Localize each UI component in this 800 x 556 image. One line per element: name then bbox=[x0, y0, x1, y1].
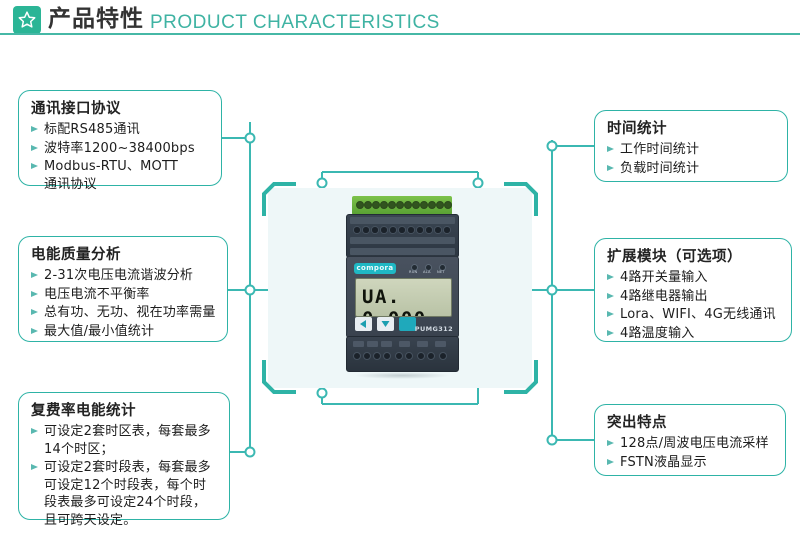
led-label-ala: ALA bbox=[423, 270, 431, 274]
device-model-label: PUMG312 bbox=[415, 325, 453, 333]
connector-node bbox=[246, 134, 255, 143]
feature-item-text: 4路开关量输入 bbox=[620, 269, 781, 287]
feature-item-text: 可设定2套时段表，每套最多可设定12个时段表，每个时段表最多可设定24个时段，且… bbox=[44, 459, 219, 529]
upper-terminal-block bbox=[346, 214, 459, 258]
lcd-display: UA. 0.000 bbox=[355, 278, 452, 317]
bullet-arrow-icon bbox=[31, 428, 38, 434]
connector-node bbox=[246, 286, 255, 295]
feature-item: 最大值/最小值统计 bbox=[31, 323, 217, 341]
bullet-arrow-icon bbox=[607, 440, 614, 446]
bullet-arrow-icon bbox=[31, 309, 38, 315]
product-device-image: compora RUN ALA NET UA. 0.000 PUMG312 bbox=[342, 196, 460, 384]
bullet-arrow-icon bbox=[31, 145, 38, 151]
lcd-value: UA. 0.000 bbox=[362, 286, 451, 317]
feature-box-highlight-features: 突出特点 128点/周波电压电流采样 FSTN液晶显示 bbox=[594, 404, 786, 476]
stage-corner-bracket-bl bbox=[262, 360, 296, 394]
feature-item: 标配RS485通讯 bbox=[31, 121, 211, 139]
feature-item: Modbus-RTU、MOTT通讯协议 bbox=[31, 158, 211, 193]
stage-corner-bracket-tr bbox=[504, 182, 538, 216]
feature-box-title: 突出特点 bbox=[607, 413, 775, 433]
feature-list: 2-31次电压电流谐波分析 电压电流不平衡率 总有功、无功、视在功率需量 最大值… bbox=[31, 267, 217, 340]
bullet-arrow-icon bbox=[607, 293, 614, 299]
led-label-run: RUN bbox=[409, 270, 417, 274]
connector-node bbox=[474, 179, 483, 188]
feature-item-text: 128点/周波电压电流采样 bbox=[620, 435, 775, 453]
feature-box-multi-tariff-energy-statistics: 复费率电能统计 可设定2套时区表，每套最多14个时区； 可设定2套时段表，每套最… bbox=[18, 392, 230, 520]
feature-box-title: 时间统计 bbox=[607, 119, 777, 139]
feature-box-title: 扩展模块（可选项） bbox=[607, 247, 781, 267]
feature-list: 可设定2套时区表，每套最多14个时区； 可设定2套时段表，每套最多可设定12个时… bbox=[31, 423, 219, 529]
set-icon[interactable] bbox=[399, 317, 416, 331]
feature-item: Lora、WIFI、4G无线通讯 bbox=[607, 306, 781, 324]
bullet-arrow-icon bbox=[31, 328, 38, 334]
feature-item-text: 最大值/最小值统计 bbox=[44, 323, 217, 341]
feature-box-title: 复费率电能统计 bbox=[31, 401, 219, 421]
feature-item-text: 总有功、无功、视在功率需量 bbox=[44, 304, 217, 322]
feature-box-title: 电能质量分析 bbox=[31, 245, 217, 265]
connector-node bbox=[318, 179, 327, 188]
feature-item-text: 4路温度输入 bbox=[620, 325, 781, 343]
feature-item-text: 电压电流不平衡率 bbox=[44, 286, 217, 304]
feature-item: 4路继电器输出 bbox=[607, 288, 781, 306]
feature-item: 总有功、无功、视在功率需量 bbox=[31, 304, 217, 322]
bullet-arrow-icon bbox=[607, 274, 614, 280]
feature-box-title: 通讯接口协议 bbox=[31, 99, 211, 119]
status-led-group: RUN ALA NET bbox=[409, 263, 453, 277]
feature-item-text: 负载时间统计 bbox=[620, 160, 777, 178]
feature-list: 4路开关量输入 4路继电器输出 Lora、WIFI、4G无线通讯 4路温度输入 bbox=[607, 269, 781, 342]
feature-item: 电压电流不平衡率 bbox=[31, 286, 217, 304]
feature-item: 2-31次电压电流谐波分析 bbox=[31, 267, 217, 285]
connector-node bbox=[548, 142, 557, 151]
bullet-arrow-icon bbox=[607, 146, 614, 152]
device-front-panel: compora RUN ALA NET UA. 0.000 PUMG312 bbox=[346, 256, 459, 338]
feature-list: 128点/周波电压电流采样 FSTN液晶显示 bbox=[607, 435, 775, 471]
connector-node bbox=[318, 389, 327, 398]
feature-item: FSTN液晶显示 bbox=[607, 454, 775, 472]
feature-item-text: Lora、WIFI、4G无线通讯 bbox=[620, 306, 781, 324]
feature-item-text: Modbus-RTU、MOTT通讯协议 bbox=[44, 158, 211, 193]
feature-item: 波特率1200~38400bps bbox=[31, 140, 211, 158]
feature-item: 4路温度输入 bbox=[607, 325, 781, 343]
feature-item-text: 标配RS485通讯 bbox=[44, 121, 211, 139]
green-terminal-strip bbox=[352, 196, 452, 215]
feature-box-time-statistics: 时间统计 工作时间统计 负载时间统计 bbox=[594, 110, 788, 182]
bullet-arrow-icon bbox=[607, 311, 614, 317]
bullet-arrow-icon bbox=[607, 165, 614, 171]
feature-item-text: FSTN液晶显示 bbox=[620, 454, 775, 472]
feature-item-text: 波特率1200~38400bps bbox=[44, 140, 211, 158]
brand-logo: compora bbox=[354, 263, 396, 274]
feature-item-text: 可设定2套时区表，每套最多14个时区； bbox=[44, 423, 219, 458]
lower-terminal-block bbox=[346, 336, 459, 372]
feature-item: 可设定2套时区表，每套最多14个时区； bbox=[31, 423, 219, 458]
bullet-arrow-icon bbox=[31, 464, 38, 470]
device-button-row[interactable] bbox=[355, 317, 417, 332]
feature-item: 4路开关量输入 bbox=[607, 269, 781, 287]
feature-item: 可设定2套时段表，每套最多可设定12个时段表，每个时段表最多可设定24个时段，且… bbox=[31, 459, 219, 529]
bullet-arrow-icon bbox=[31, 163, 38, 169]
feature-item-text: 4路继电器输出 bbox=[620, 288, 781, 306]
feature-list: 标配RS485通讯 波特率1200~38400bps Modbus-RTU、MO… bbox=[31, 121, 211, 193]
connector-node bbox=[548, 286, 557, 295]
feature-box-expansion-module: 扩展模块（可选项） 4路开关量输入 4路继电器输出 Lora、WIFI、4G无线… bbox=[594, 238, 792, 342]
feature-item: 工作时间统计 bbox=[607, 141, 777, 159]
device-shadow bbox=[354, 372, 450, 379]
bullet-arrow-icon bbox=[607, 330, 614, 336]
bullet-arrow-icon bbox=[31, 272, 38, 278]
bullet-arrow-icon bbox=[31, 126, 38, 132]
bullet-arrow-icon bbox=[31, 291, 38, 297]
connector-node bbox=[548, 436, 557, 445]
led-label-net: NET bbox=[437, 270, 445, 274]
feature-item-text: 工作时间统计 bbox=[620, 141, 777, 159]
feature-list: 工作时间统计 负载时间统计 bbox=[607, 141, 777, 177]
stage-corner-bracket-br bbox=[504, 360, 538, 394]
feature-item-text: 2-31次电压电流谐波分析 bbox=[44, 267, 217, 285]
feature-box-communication-interface-protocol: 通讯接口协议 标配RS485通讯 波特率1200~38400bps Modbus… bbox=[18, 90, 222, 186]
connector-node bbox=[246, 448, 255, 457]
feature-item: 负载时间统计 bbox=[607, 160, 777, 178]
bullet-arrow-icon bbox=[607, 459, 614, 465]
feature-item: 128点/周波电压电流采样 bbox=[607, 435, 775, 453]
stage-corner-bracket-tl bbox=[262, 182, 296, 216]
left-arrow-icon[interactable] bbox=[355, 317, 372, 331]
down-arrow-icon[interactable] bbox=[377, 317, 394, 331]
feature-box-power-quality-analysis: 电能质量分析 2-31次电压电流谐波分析 电压电流不平衡率 总有功、无功、视在功… bbox=[18, 236, 228, 342]
